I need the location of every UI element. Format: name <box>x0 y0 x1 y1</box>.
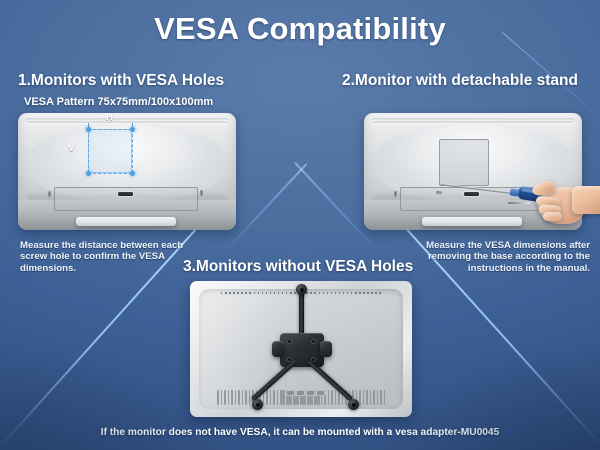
adapter-hole-top-left <box>287 339 292 344</box>
adapter-endpoint-lower-left <box>252 399 263 410</box>
screwdriver-tip <box>436 190 442 194</box>
adapter-endpoint-lower-right <box>348 399 359 410</box>
monitor-top-bar <box>371 118 576 123</box>
vesa-dashed-line-top <box>88 129 132 130</box>
hand-finger-3 <box>543 212 562 222</box>
section-1-subheading: VESA Pattern 75x75mm/100x100mm <box>24 96 213 108</box>
vesa-hole-bottom-right <box>130 171 135 176</box>
adapter-arm-lower-right <box>307 359 353 402</box>
infographic-canvas: VESA Compatibility 1.Monitors with VESA … <box>0 0 600 450</box>
vesa-dashed-line-bottom <box>88 173 132 174</box>
screw-dropping <box>508 202 530 204</box>
vesa-hole-bottom-left <box>86 171 91 176</box>
page-title: VESA Compatibility <box>0 11 600 47</box>
vesa-dashed-line-right <box>132 129 133 173</box>
monitor-top-bar <box>25 118 230 123</box>
section-2-caption: Measure the VESA dimensions after removi… <box>400 240 590 274</box>
adapter-plate-wing-left <box>272 341 284 357</box>
section-1-heading: 1.Monitors with VESA Holes <box>18 72 224 90</box>
monitor-back-with-vesa-holes: H V <box>18 113 236 230</box>
vesa-adapter-bracket <box>190 281 412 417</box>
adapter-center-plate <box>280 333 324 367</box>
screwdriver-shaft <box>440 183 512 194</box>
monitor-side-port-left <box>394 191 397 197</box>
monitor-back-without-vesa-holes <box>190 281 412 417</box>
adapter-plate-wing-right <box>320 341 332 357</box>
section-3-heading: 3.Monitors without VESA Holes <box>183 258 413 276</box>
monitor-base-bar <box>76 217 176 226</box>
monitor-side-port-left <box>48 191 51 197</box>
vesa-hole-top-right <box>130 127 135 132</box>
vesa-pattern-box <box>88 129 132 173</box>
monitor-port-connector <box>118 192 133 196</box>
adapter-arm-lower-left <box>251 359 297 402</box>
vesa-hole-top-left <box>86 127 91 132</box>
section-1-caption: Measure the distance between each screw … <box>20 240 188 274</box>
accent-line-left-upper <box>224 163 307 252</box>
screwdriver-and-hand <box>440 178 600 240</box>
footnote-text: If the monitor does not have VESA, it ca… <box>0 427 600 438</box>
vesa-hole-pattern-overlay: H V <box>88 129 132 173</box>
vesa-dashed-line-left <box>88 129 89 173</box>
adapter-hole-top-right <box>311 339 316 344</box>
adapter-endpoint-top <box>296 284 307 295</box>
monitor-port-recess <box>54 187 198 211</box>
hand-wrist <box>572 186 600 214</box>
section-2-heading: 2.Monitor with detachable stand <box>342 72 578 90</box>
vesa-vertical-label: V <box>68 143 74 154</box>
monitor-side-port-right <box>200 190 203 196</box>
vesa-horizontal-label: H <box>106 112 113 123</box>
